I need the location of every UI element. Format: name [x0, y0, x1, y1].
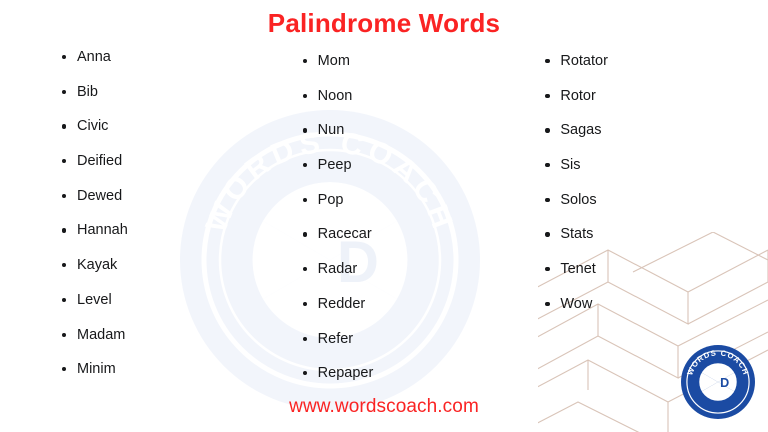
list-item: Mom	[303, 54, 526, 69]
list-item: Kayak	[62, 258, 285, 273]
list-item: Redder	[303, 297, 526, 312]
list-item: Stats	[545, 227, 768, 242]
list-item: Wow	[545, 297, 768, 312]
poster-canvas: WORDS COACH D Palindrome Words Anna Bib …	[0, 0, 768, 432]
footer-website-url: www.wordscoach.com	[0, 396, 768, 418]
list-item: Minim	[62, 362, 285, 377]
list-item: Refer	[303, 332, 526, 347]
list-item: Dewed	[62, 189, 285, 204]
word-column-2: Mom Noon Nun Peep Pop Racecar Radar Redd…	[285, 46, 526, 394]
list-item: Deified	[62, 154, 285, 169]
word-columns: Anna Bib Civic Deified Dewed Hannah Kaya…	[0, 46, 768, 394]
list-item: Madam	[62, 328, 285, 343]
list-item: Rotator	[545, 54, 768, 69]
list-item: Hannah	[62, 223, 285, 238]
list-item: Anna	[62, 50, 285, 65]
wordscoach-logo-badge: WORDS COACH D	[681, 345, 755, 419]
list-item: Peep	[303, 158, 526, 173]
list-item: Racecar	[303, 227, 526, 242]
svg-text:D: D	[720, 376, 729, 390]
word-list-3: Rotator Rotor Sagas Sis Solos Stats Tene…	[545, 54, 768, 311]
list-item: Tenet	[545, 262, 768, 277]
page-title: Palindrome Words	[0, 8, 768, 39]
list-item: Civic	[62, 119, 285, 134]
word-list-1: Anna Bib Civic Deified Dewed Hannah Kaya…	[62, 50, 285, 377]
list-item: Repaper	[303, 366, 526, 381]
list-item: Bib	[62, 85, 285, 100]
list-item: Pop	[303, 193, 526, 208]
word-column-3: Rotator Rotor Sagas Sis Solos Stats Tene…	[525, 46, 768, 394]
list-item: Nun	[303, 123, 526, 138]
list-item: Rotor	[545, 89, 768, 104]
word-column-1: Anna Bib Civic Deified Dewed Hannah Kaya…	[0, 46, 285, 394]
list-item: Sis	[545, 158, 768, 173]
word-list-2: Mom Noon Nun Peep Pop Racecar Radar Redd…	[303, 54, 526, 381]
list-item: Level	[62, 293, 285, 308]
list-item: Solos	[545, 193, 768, 208]
list-item: Noon	[303, 89, 526, 104]
list-item: Sagas	[545, 123, 768, 138]
list-item: Radar	[303, 262, 526, 277]
